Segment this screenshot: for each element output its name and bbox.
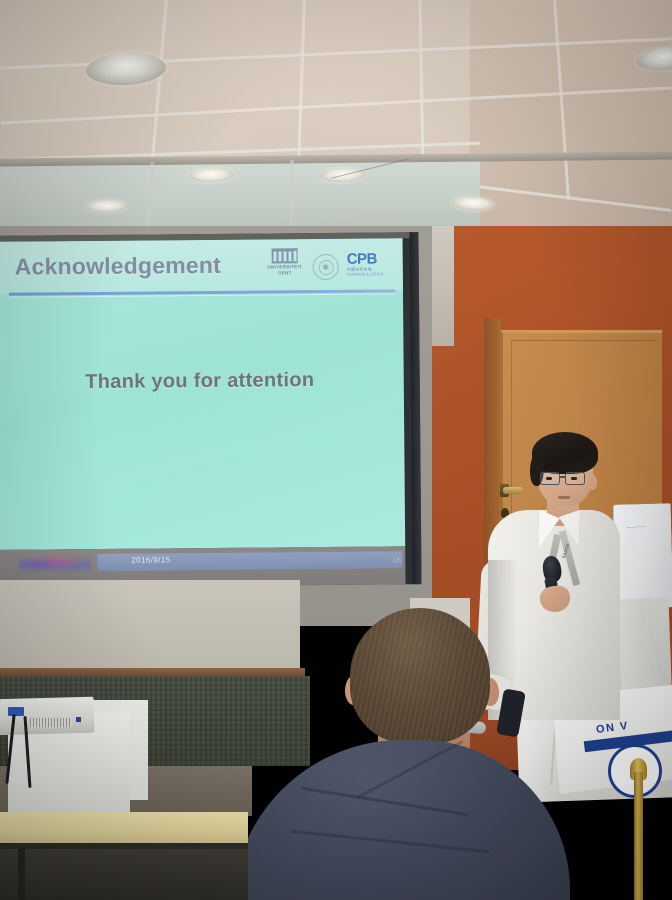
universiteit-gent-logo: UNIVERSITEIT GENT bbox=[261, 248, 309, 286]
back-wall bbox=[0, 580, 300, 672]
ugent-line2: GENT bbox=[261, 270, 309, 276]
photo-scene: Acknowledgement UNIVERSITEIT GENT ✻ CPB … bbox=[0, 0, 672, 900]
footer-logo bbox=[19, 553, 91, 574]
speaker-mouth bbox=[558, 496, 570, 499]
flag-pole bbox=[634, 772, 643, 900]
projector-indicator-light bbox=[76, 717, 81, 722]
slide-main-text: Thank you for attention bbox=[85, 369, 314, 394]
wall-edge-strip bbox=[432, 226, 454, 346]
laptop[interactable]: ———— bbox=[613, 503, 672, 608]
speaker-eye bbox=[571, 477, 577, 480]
seal-mark: ✻ bbox=[318, 259, 333, 274]
slide-logo-row: UNIVERSITEIT GENT ✻ CPB 中国水利水电 科学研究院水工研究… bbox=[261, 244, 401, 289]
speaker-eye bbox=[546, 477, 552, 480]
presentation-slide: Acknowledgement UNIVERSITEIT GENT ✻ CPB … bbox=[0, 238, 405, 550]
speaker-ear bbox=[588, 474, 597, 490]
desk-underside bbox=[0, 849, 248, 900]
foreground-desk bbox=[0, 812, 248, 846]
glasses-bridge bbox=[559, 476, 566, 478]
circular-seal-logo: ✻ bbox=[313, 254, 339, 280]
slide-title: Acknowledgement bbox=[15, 252, 221, 281]
laptop-brand-text: ———— bbox=[626, 524, 645, 530]
desk-leg bbox=[18, 849, 25, 900]
door-handle[interactable] bbox=[503, 487, 523, 494]
attendee-hair-texture bbox=[350, 608, 490, 744]
slide-body: Thank you for attention bbox=[0, 368, 404, 395]
attendee-head bbox=[350, 608, 490, 744]
projection-screen: Acknowledgement UNIVERSITEIT GENT ✻ CPB … bbox=[0, 232, 422, 588]
projector-vents bbox=[30, 718, 72, 727]
cpb-subtitle-2: 科学研究院水工研究所 bbox=[347, 272, 405, 278]
temple-icon bbox=[272, 248, 298, 263]
slide-page-number: 16 bbox=[392, 555, 401, 564]
slide-date: 2016/9/15 bbox=[131, 555, 170, 564]
cpb-wordmark: CPB bbox=[347, 251, 405, 267]
cpb-logo: CPB 中国水利水电 科学研究院水工研究所 bbox=[347, 251, 405, 278]
projector-vga-port bbox=[8, 707, 24, 716]
